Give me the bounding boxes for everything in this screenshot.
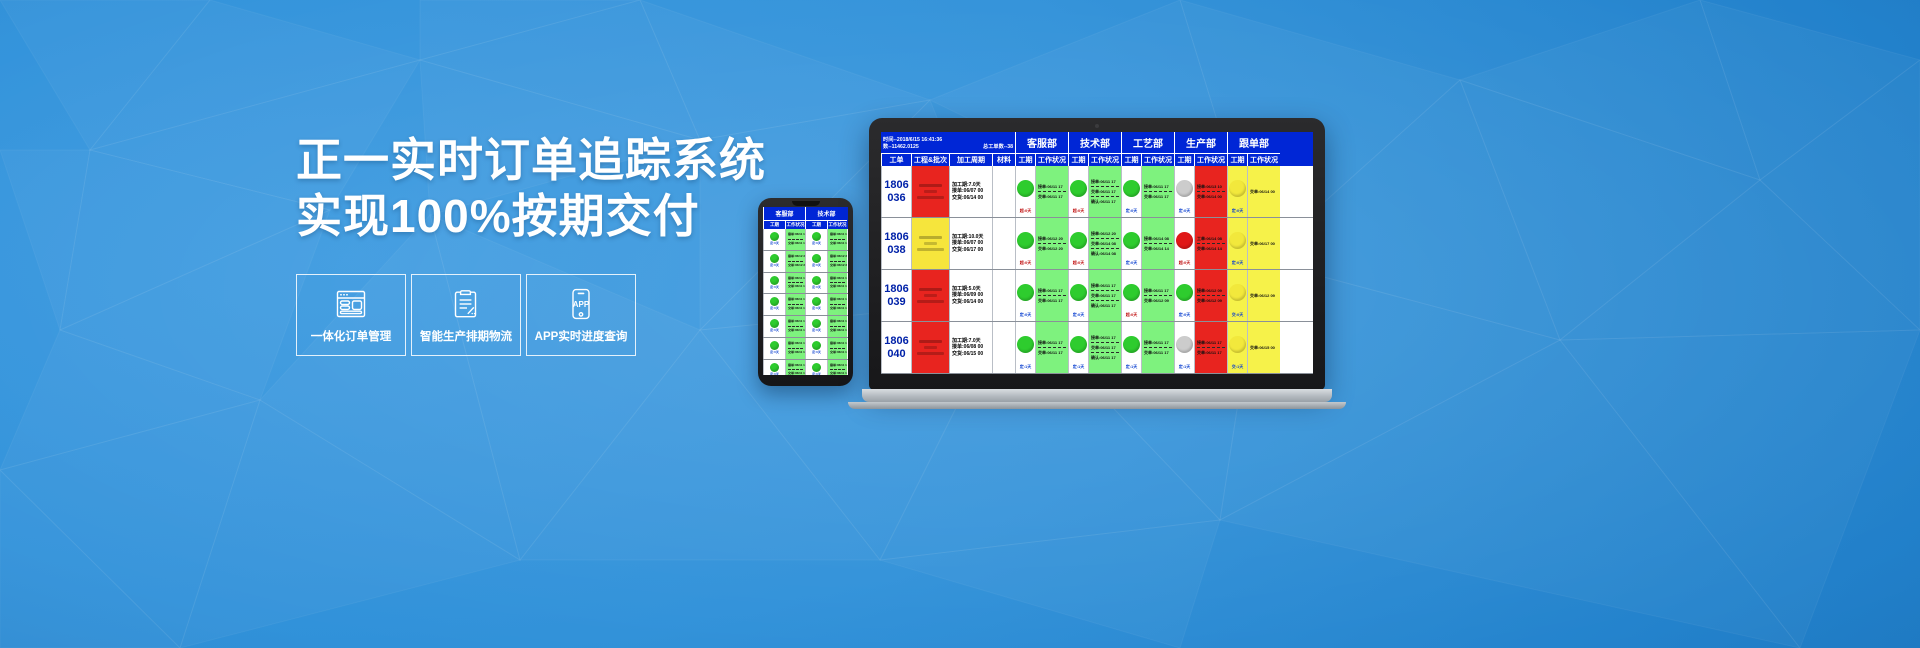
phone-work-status-cell: 接单:06/11 17交单:06/11 17: [827, 338, 847, 359]
duration-cell: 交:1天: [1227, 322, 1247, 373]
phone-table-body[interactable]: 定:0天接单:06/11 17交单:06/11 17定:0天接单:06/11 1…: [763, 229, 848, 375]
phone-work-status-cell: 接单:06/11 17交单:06/11 17: [785, 360, 805, 376]
phone-column-header-3: 工期: [805, 220, 827, 229]
material-cell: [992, 270, 1015, 321]
column-header-13: 工期: [1227, 153, 1247, 166]
work-status-cell: 接单:06/14 08交单:06/14 14: [1141, 218, 1174, 269]
material-cell: [992, 218, 1015, 269]
work-status-cell: 接单:06/12 20交单:06/12 20: [1035, 218, 1068, 269]
phone-duration-cell: 定:0天: [763, 251, 785, 272]
column-header-7: 工期: [1068, 153, 1088, 166]
phone-duration-cell: 定:0天: [805, 251, 827, 272]
order-tracking-dashboard: 时间--2018/6/15 16:41:36数--11462.0125总工单数-…: [881, 132, 1313, 374]
work-status-cell: 接单:06/11 17交单:06/11 17: [1035, 270, 1068, 321]
mobile-app-icon: APP: [570, 287, 592, 321]
order-number-cell: 1806040: [881, 322, 911, 373]
phone-work-status-cell: 接单:06/11 17交单:06/11 17: [785, 338, 805, 359]
column-header-4: 材料: [992, 153, 1015, 166]
headline-line-1: 正一实时订单追踪系统: [296, 134, 766, 186]
work-status-cell: 接单:06/12 20交单:06/14 08确认:06/14 08: [1088, 218, 1121, 269]
department-header-4: 生产部: [1174, 132, 1227, 153]
phone-duration-cell: 定:0天: [763, 273, 785, 294]
duration-cell: 定:1天: [1174, 322, 1194, 373]
phone-work-status-cell: 接单:06/11 17交单:06/11 17: [827, 360, 847, 376]
duration-cell: 定:1天: [1121, 322, 1141, 373]
phone-work-status-cell: 接单:06/12 20交单:06/12 20: [785, 251, 805, 272]
svg-text:APP: APP: [573, 300, 590, 309]
project-batch-cell: [911, 270, 949, 321]
work-status-cell: 接单:06/13 10交单:06/14 00: [1194, 166, 1227, 217]
phone-work-status-cell: 接单:06/11 17交单:06/11 17: [785, 273, 805, 294]
phone-work-status-cell: 接单:06/11 17交单:06/11 17: [785, 294, 805, 315]
phone-table-row[interactable]: 定:0天接单:06/11 17交单:06/11 17定:0天接单:06/11 1…: [763, 338, 848, 360]
work-status-cell: 接单:06/11 17交单:06/11 17确认:06/11 17: [1088, 322, 1121, 373]
feature-label: APP实时进度查询: [535, 328, 628, 344]
feature-card-production-logistics[interactable]: 智能生产排期物流: [411, 274, 521, 356]
phone-notch: [792, 201, 820, 206]
phone-column-header-2: 工作状况: [785, 220, 805, 229]
duration-cell: 定:0天: [1121, 166, 1141, 217]
laptop-screen[interactable]: 时间--2018/6/15 16:41:36数--11462.0125总工单数-…: [881, 132, 1313, 374]
duration-cell: 超:0天: [1068, 166, 1088, 217]
phone-table-row[interactable]: 定:0天接单:06/11 17交单:06/11 17定:0天接单:06/11 1…: [763, 360, 848, 376]
work-status-cell: 接单:06/11 17交单:06/11 17: [1194, 322, 1227, 373]
work-status-cell: 交单:06/14 00: [1247, 166, 1280, 217]
column-header-6: 工作状况: [1035, 153, 1068, 166]
column-header-8: 工作状况: [1088, 153, 1121, 166]
duration-cell: 定:1天: [1068, 322, 1088, 373]
column-header-row: 工单工程&批次加工周期材料工期工作状况工期工作状况工期工作状况工期工作状况工期工…: [881, 153, 1313, 166]
table-row[interactable]: 1806040加工期:7.0天接单:06/08 00交货:06/15 00定:1…: [881, 322, 1313, 374]
project-batch-cell: [911, 166, 949, 217]
column-header-2: 工程&批次: [911, 153, 949, 166]
duration-cell: 定:0天: [1068, 270, 1088, 321]
laptop-foot: [848, 402, 1346, 409]
work-status-cell: 交单:06/15 00: [1247, 322, 1280, 373]
feature-card-app-progress[interactable]: APP APP实时进度查询: [526, 274, 636, 356]
work-status-cell: 接单:06/11 17交单:06/11 17: [1141, 322, 1174, 373]
department-header-2: 技术部: [1068, 132, 1121, 153]
phone-column-header-4: 工作状况: [827, 220, 847, 229]
work-status-cell: 接单:06/12 09交单:06/12 09: [1194, 270, 1227, 321]
department-header-3: 工艺部: [1121, 132, 1174, 153]
phone-table-row[interactable]: 定:0天接单:06/11 17交单:06/11 17定:0天接单:06/11 1…: [763, 273, 848, 295]
work-status-cell: 接单:06/11 17交单:06/11 17确认:06/11 17: [1088, 166, 1121, 217]
duration-cell: 定:0天: [1121, 218, 1141, 269]
project-batch-cell: [911, 322, 949, 373]
phone-duration-cell: 定:0天: [805, 316, 827, 337]
table-row[interactable]: 1806039加工期:5.0天接单:06/09 00交货:06/14 00定:0…: [881, 270, 1313, 322]
column-header-3: 加工周期: [949, 153, 992, 166]
column-header-11: 工期: [1174, 153, 1194, 166]
processing-cycle-cell: 加工期:7.0天接单:06/07 00交货:06/14 00: [949, 166, 992, 217]
duration-cell: 定:0天: [1174, 166, 1194, 217]
work-status-cell: 接单:06/11 17交单:06/11 17: [1035, 166, 1068, 217]
phone-duration-cell: 定:0天: [763, 338, 785, 359]
processing-cycle-cell: 加工期:10.0天接单:06/07 00交货:06/17 00: [949, 218, 992, 269]
dashboard-time-label: 时间--2018/6/15 16:41:36: [883, 136, 942, 143]
column-header-9: 工期: [1121, 153, 1141, 166]
phone-duration-cell: 定:0天: [763, 229, 785, 250]
dashboard-table-body[interactable]: 1806036加工期:7.0天接单:06/07 00交货:06/14 00超:0…: [881, 166, 1313, 374]
laptop-mockup: 时间--2018/6/15 16:41:36数--11462.0125总工单数-…: [862, 118, 1332, 418]
feature-label: 一体化订单管理: [311, 328, 392, 344]
order-number-cell: 1806039: [881, 270, 911, 321]
duration-cell: 超:0天: [1121, 270, 1141, 321]
phone-department-header-2: 技术部: [805, 207, 847, 220]
smartphone-mockup: 客服部技术部 工期工作状况工期工作状况 定:0天接单:06/11 17交单:06…: [758, 198, 853, 386]
material-cell: [992, 322, 1015, 373]
phone-table-row[interactable]: 定:0天接单:06/11 17交单:06/11 17定:0天接单:06/11 1…: [763, 294, 848, 316]
phone-work-status-cell: 接单:06/11 17交单:06/11 17: [827, 316, 847, 337]
phone-column-header-1: 工期: [763, 220, 785, 229]
column-header-5: 工期: [1015, 153, 1035, 166]
phone-column-header: 工期工作状况工期工作状况: [763, 220, 848, 229]
phone-table-row[interactable]: 定:0天接单:06/11 17交单:06/11 17定:0天接单:06/11 1…: [763, 316, 848, 338]
column-header-1: 工单: [881, 153, 911, 166]
work-status-cell: 接单:06/11 17交单:06/11 17: [1035, 322, 1068, 373]
work-status-cell: 接单:06/11 17交单:06/11 17确认:06/11 17: [1088, 270, 1121, 321]
processing-cycle-cell: 加工期:7.0天接单:06/08 00交货:06/15 00: [949, 322, 992, 373]
column-header-14: 工作状况: [1247, 153, 1280, 166]
phone-body: 客服部技术部 工期工作状况工期工作状况 定:0天接单:06/11 17交单:06…: [758, 198, 853, 386]
phone-work-status-cell: 接单:06/12 20交单:06/12 20: [827, 251, 847, 272]
duration-cell: 超:0天: [1068, 218, 1088, 269]
phone-work-status-cell: 接单:06/11 17交单:06/11 17: [785, 229, 805, 250]
clipboard-checklist-icon: [453, 287, 479, 321]
duration-cell: 定:0天: [1227, 218, 1247, 269]
phone-department-header: 客服部技术部: [763, 207, 848, 220]
phone-department-header-1: 客服部: [763, 207, 805, 220]
duration-cell: 定:1天: [1015, 322, 1035, 373]
department-header-1: 客服部: [1015, 132, 1068, 153]
phone-work-status-cell: 接单:06/11 17交单:06/11 17: [827, 294, 847, 315]
phone-duration-cell: 定:0天: [805, 338, 827, 359]
laptop-lid: 时间--2018/6/15 16:41:36数--11462.0125总工单数-…: [869, 118, 1325, 390]
phone-duration-cell: 定:0天: [805, 360, 827, 376]
phone-work-status-cell: 接单:06/11 17交单:06/11 17: [827, 229, 847, 250]
phone-screen[interactable]: 客服部技术部 工期工作状况工期工作状况 定:0天接单:06/11 17交单:06…: [763, 207, 848, 375]
order-number-cell: 1806038: [881, 218, 911, 269]
table-row[interactable]: 1806038加工期:10.0天接单:06/07 00交货:06/17 00超:…: [881, 218, 1313, 270]
phone-work-status-cell: 接单:06/11 17交单:06/11 17: [827, 273, 847, 294]
work-status-cell: 接单:06/11 17交单:06/12 09: [1141, 270, 1174, 321]
phone-table-row[interactable]: 定:0天接单:06/12 20交单:06/12 20定:0天接单:06/12 2…: [763, 251, 848, 273]
laptop-base: [862, 389, 1332, 402]
phone-duration-cell: 定:0天: [763, 360, 785, 376]
phone-dashboard: 客服部技术部 工期工作状况工期工作状况 定:0天接单:06/11 17交单:06…: [763, 207, 848, 375]
phone-table-row[interactable]: 定:0天接单:06/11 17交单:06/11 17定:0天接单:06/11 1…: [763, 229, 848, 251]
dashboard-count-label: 数--11462.0125: [883, 143, 919, 150]
feature-card-order-management[interactable]: 一体化订单管理: [296, 274, 406, 356]
duration-cell: 交:0天: [1227, 270, 1247, 321]
phone-work-status-cell: 接单:06/11 17交单:06/11 17: [785, 316, 805, 337]
table-row[interactable]: 1806036加工期:7.0天接单:06/07 00交货:06/14 00超:0…: [881, 166, 1313, 218]
dashboard-window-icon: [336, 287, 366, 321]
duration-cell: 定:0天: [1174, 270, 1194, 321]
column-header-10: 工作状况: [1141, 153, 1174, 166]
processing-cycle-cell: 加工期:5.0天接单:06/09 00交货:06/14 00: [949, 270, 992, 321]
work-status-cell: 交单:06/17 00: [1247, 218, 1280, 269]
column-header-12: 工作状况: [1194, 153, 1227, 166]
dashboard-meta-bar: 时间--2018/6/15 16:41:36数--11462.0125总工单数-…: [881, 132, 1015, 153]
phone-duration-cell: 定:0天: [805, 294, 827, 315]
work-status-cell: 交单:06/12 09: [1247, 270, 1280, 321]
department-header-5: 跟单部: [1227, 132, 1280, 153]
phone-duration-cell: 定:0天: [805, 273, 827, 294]
phone-duration-cell: 定:0天: [763, 316, 785, 337]
phone-duration-cell: 定:0天: [805, 229, 827, 250]
duration-cell: 定:0天: [1227, 166, 1247, 217]
duration-cell: 超:0天: [1174, 218, 1194, 269]
dashboard-total-label: 总工单数--38: [983, 143, 1013, 150]
order-number-cell: 1806036: [881, 166, 911, 217]
work-status-cell: 接单:06/11 17交单:06/11 17: [1141, 166, 1174, 217]
duration-cell: 定:0天: [1015, 270, 1035, 321]
material-cell: [992, 166, 1015, 217]
duration-cell: 超:0天: [1015, 166, 1035, 217]
project-batch-cell: [911, 218, 949, 269]
webcam-icon: [1095, 124, 1099, 128]
feature-label: 智能生产排期物流: [420, 328, 512, 344]
work-status-cell: 工单:06/14 08交单:06/14 14: [1194, 218, 1227, 269]
phone-duration-cell: 定:0天: [763, 294, 785, 315]
duration-cell: 超:0天: [1015, 218, 1035, 269]
